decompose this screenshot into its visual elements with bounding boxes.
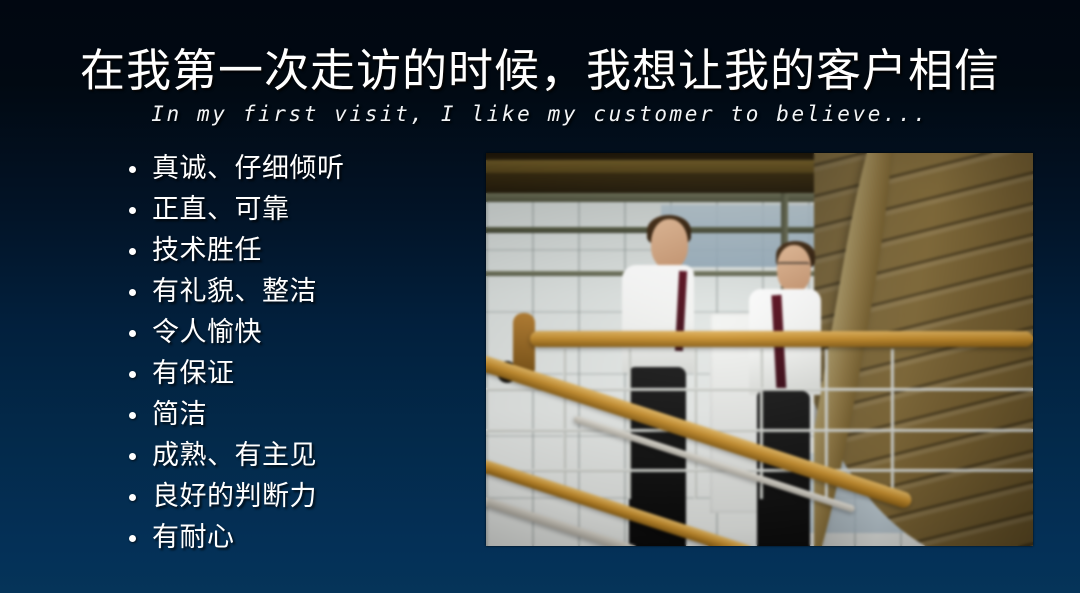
bullet-dot-icon	[129, 453, 136, 460]
list-item-label: 简洁	[152, 399, 207, 430]
list-item: 简洁	[126, 394, 466, 435]
bullet-dot-icon	[129, 371, 136, 378]
list-item-label: 有保证	[152, 358, 235, 389]
balustrade-rail	[486, 469, 1033, 472]
list-item-label: 技术胜任	[152, 235, 262, 266]
list-item: 有保证	[126, 353, 466, 394]
page-subtitle: In my first visit, I like my customer to…	[0, 101, 1080, 127]
title-block: 在我第一次走访的时候，我想让我的客户相信 In my first visit, …	[0, 44, 1080, 127]
list-item: 有礼貌、整洁	[126, 271, 466, 312]
bullet-dot-icon	[129, 289, 136, 296]
head	[651, 219, 688, 269]
page-title: 在我第一次走访的时候，我想让我的客户相信	[0, 44, 1080, 98]
list-item-label: 有耐心	[152, 522, 235, 553]
balustrade-post	[891, 349, 894, 499]
business-people-photo	[486, 153, 1033, 546]
list-item-label: 成熟、有主见	[152, 440, 317, 471]
glasses	[777, 262, 810, 271]
bullet-dot-icon	[129, 494, 136, 501]
bullet-dot-icon	[129, 330, 136, 337]
list-item: 真诚、仔细倾听	[126, 148, 466, 189]
list-item: 成熟、有主见	[126, 435, 466, 476]
list-item: 正直、可靠	[126, 189, 466, 230]
bullet-dot-icon	[129, 207, 136, 214]
presentation-slide: 在我第一次走访的时候，我想让我的客户相信 In my first visit, …	[0, 0, 1080, 593]
list-item-label: 正直、可靠	[152, 194, 290, 225]
list-item-label: 真诚、仔细倾听	[152, 153, 345, 184]
bullet-dot-icon	[129, 248, 136, 255]
list-item: 良好的判断力	[126, 476, 466, 517]
list-item-label: 良好的判断力	[152, 481, 317, 512]
photo-content	[486, 153, 1033, 546]
bullet-dot-icon	[129, 535, 136, 542]
bullet-dot-icon	[129, 412, 136, 419]
balustrade-rail	[486, 429, 1033, 432]
balustrade-post	[628, 349, 631, 499]
list-item: 技术胜任	[126, 230, 466, 271]
list-item: 令人愉快	[126, 312, 466, 353]
list-item: 有耐心	[126, 517, 466, 558]
balustrade-post	[563, 349, 566, 499]
bullet-list: 真诚、仔细倾听 正直、可靠 技术胜任 有礼貌、整洁 令人愉快 有保证 简洁 成	[126, 148, 466, 558]
bullet-dot-icon	[129, 166, 136, 173]
wooden-handrail	[530, 331, 1033, 347]
list-item-label: 令人愉快	[152, 317, 262, 348]
list-item-label: 有礼貌、整洁	[152, 276, 317, 307]
